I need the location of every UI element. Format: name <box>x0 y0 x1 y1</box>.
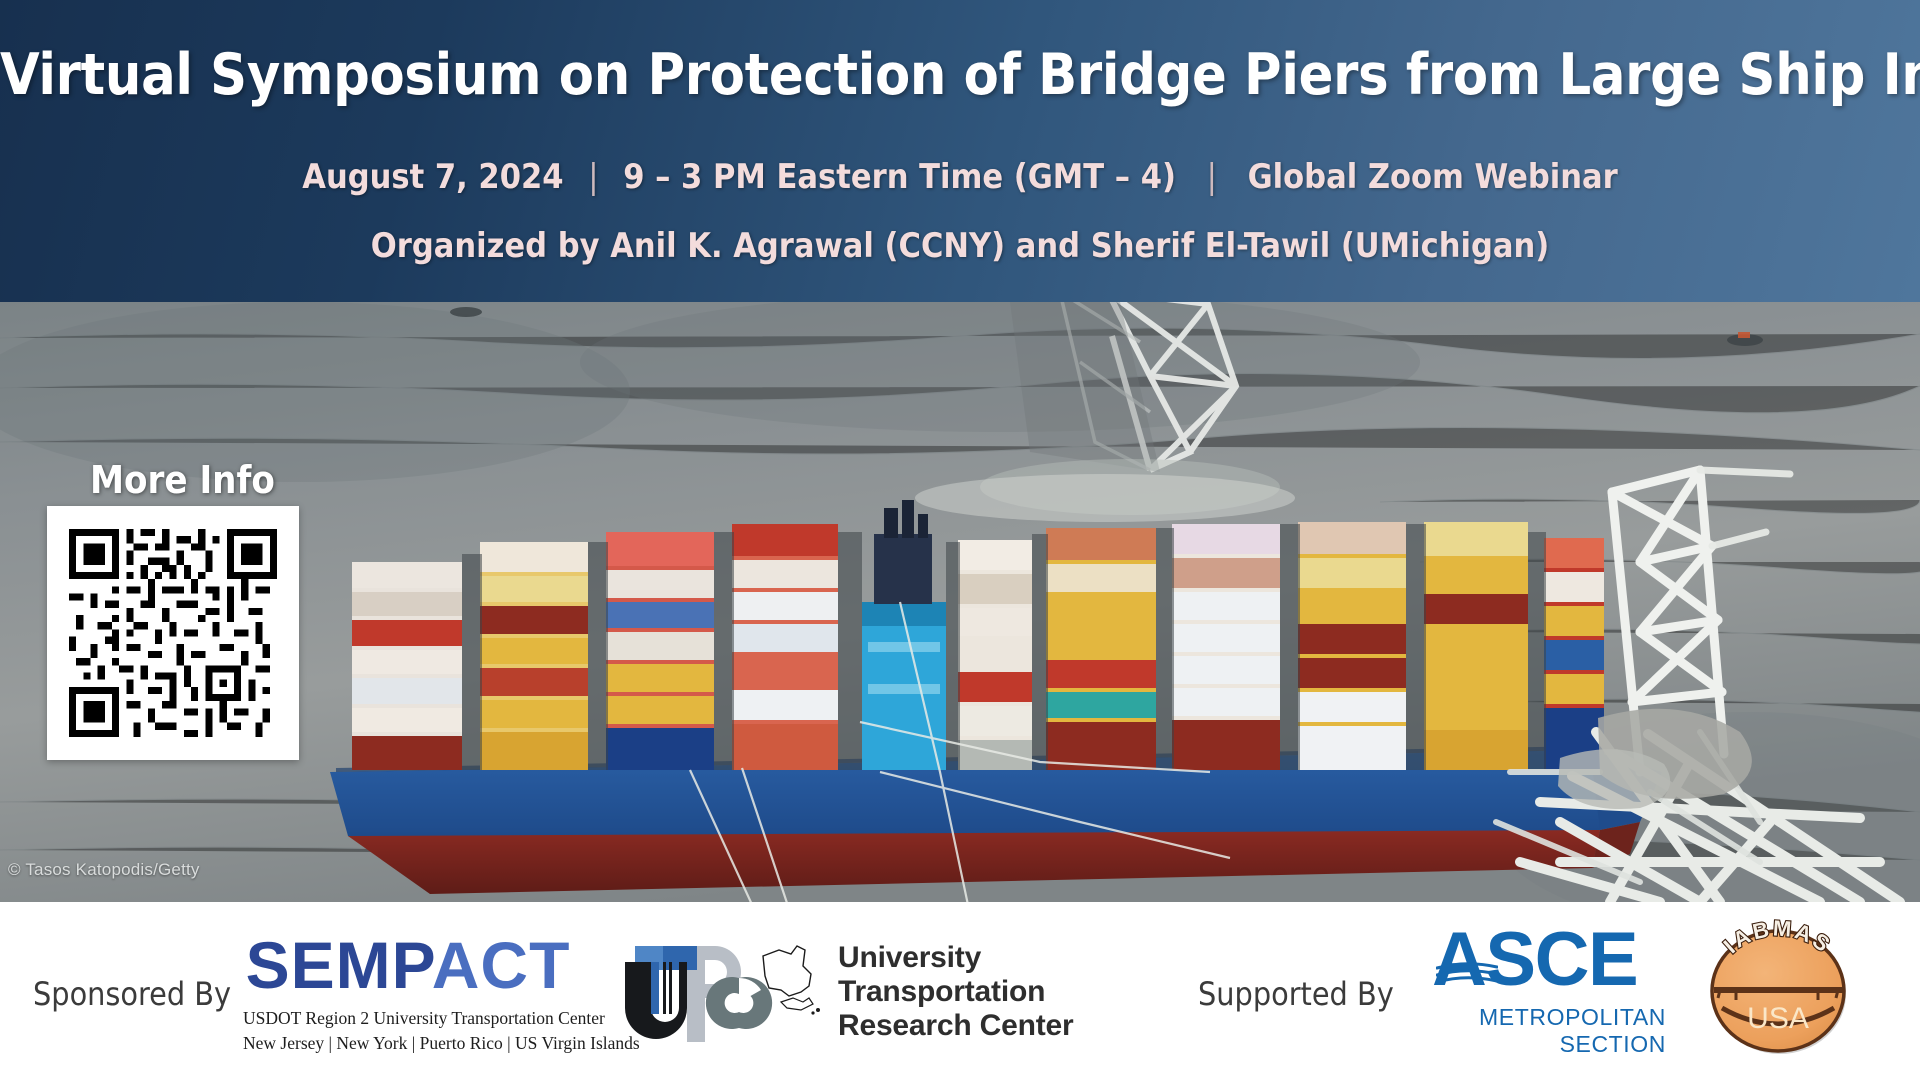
asce-waves-icon <box>1436 962 1498 988</box>
utrc-logo-mark[interactable] <box>613 940 828 1048</box>
utrc-line-3: Research Center <box>838 1009 1073 1043</box>
detail-separator-1: | <box>574 157 612 197</box>
qr-code-icon <box>69 526 277 740</box>
poster-root: Virtual Symposium on Protection of Bridg… <box>0 0 1920 1080</box>
header-banner: Virtual Symposium on Protection of Bridg… <box>0 0 1920 302</box>
sempact-wordmark: SEMPACT <box>243 932 573 998</box>
event-details-line: August 7, 2024 | 9 – 3 PM Eastern Time (… <box>0 157 1920 197</box>
asce-logo[interactable]: ASCE METROPOLITAN SECTION <box>1432 922 1672 1062</box>
sempact-tagline-1: USDOT Region 2 University Transportation… <box>243 1007 573 1031</box>
page-title: Virtual Symposium on Protection of Bridg… <box>0 42 1920 108</box>
qr-code[interactable] <box>47 506 299 760</box>
iabmas-logo[interactable]: IABMAS USA <box>1694 912 1862 1070</box>
event-time: 9 – 3 PM Eastern Time (GMT – 4) <box>623 157 1176 197</box>
utrc-line-1: University <box>838 941 1073 975</box>
sempact-logo[interactable]: SEMPACT USDOT Region 2 University Transp… <box>243 932 573 1056</box>
photo-credit: © Tasos Katopodis/Getty <box>8 860 200 880</box>
sempact-word-part-b: ACT <box>432 928 571 1002</box>
utrc-line-2: Transportation <box>838 975 1073 1009</box>
iabmas-country-text: USA <box>1747 1002 1809 1035</box>
more-info-label: More Info <box>90 458 275 502</box>
detail-separator-2: | <box>1187 157 1237 197</box>
sponsored-by-label: Sponsored By <box>33 975 231 1013</box>
sempact-tagline-2: New Jersey | New York | Puerto Rico | US… <box>243 1031 573 1056</box>
supported-by-label: Supported By <box>1198 975 1394 1013</box>
sempact-word-part-a: SEMP <box>246 928 432 1002</box>
event-platform: Global Zoom Webinar <box>1248 157 1618 197</box>
sponsor-bar: Sponsored By Supported By SEMPACT USDOT … <box>0 902 1920 1080</box>
organizers-line: Organized by Anil K. Agrawal (CCNY) and … <box>0 226 1920 266</box>
asce-section-text: METROPOLITAN SECTION <box>1479 1004 1666 1058</box>
asce-sub-line-1: METROPOLITAN <box>1479 1004 1666 1031</box>
utrc-logo-text[interactable]: University Transportation Research Cente… <box>838 941 1073 1043</box>
event-date: August 7, 2024 <box>302 157 563 197</box>
asce-sub-line-2: SECTION <box>1479 1031 1666 1058</box>
